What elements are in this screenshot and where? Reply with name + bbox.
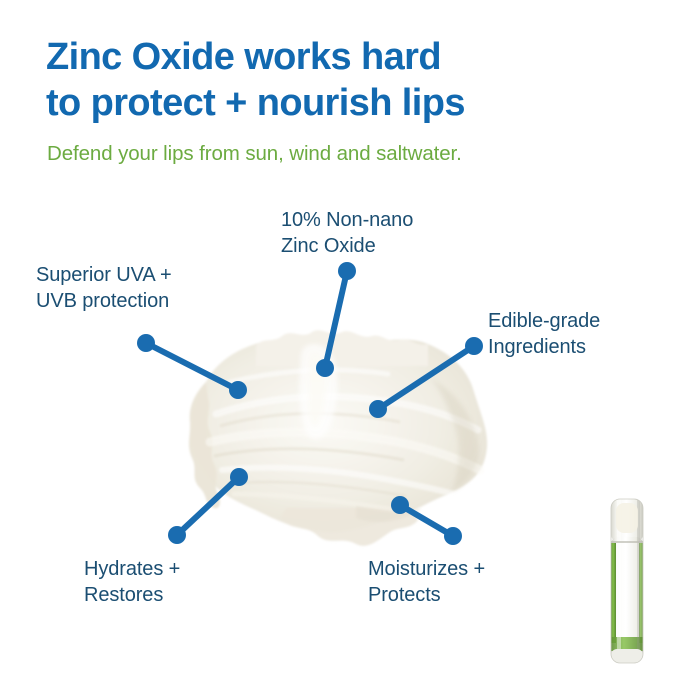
callout-label-superior-uva-uvb: Superior UVA + UVB protection: [36, 262, 266, 314]
headline-line-1: Zinc Oxide works hard: [46, 36, 441, 78]
tube-cap-seam: [611, 541, 643, 543]
page-title: Zinc Oxide works hard to protect + nouri…: [46, 34, 646, 126]
connector-line-moisturizes-protects: [400, 505, 453, 536]
callout-label-zinc-oxide-pct: 10% Non-nano Zinc Oxide: [281, 207, 501, 259]
connector-dot-outer-moisturizes-protects: [444, 527, 462, 545]
connector-dot-inner-zinc-oxide-pct: [316, 359, 334, 377]
connector-dot-inner-moisturizes-protects: [391, 496, 409, 514]
connector-line-edible-grade: [378, 346, 474, 409]
tube-base: [611, 649, 643, 663]
connector-dot-outer-edible-grade: [465, 337, 483, 355]
page-subtitle: Defend your lips from sun, wind and salt…: [47, 141, 667, 167]
connector-dot-inner-superior-uva-uvb: [229, 381, 247, 399]
connector-line-hydrates-restores: [177, 477, 239, 535]
connector-line-superior-uva-uvb: [146, 343, 238, 390]
tube-label-stripe-left: [611, 543, 616, 643]
connector-dot-outer-zinc-oxide-pct: [338, 262, 356, 280]
connector-dot-outer-hydrates-restores: [168, 526, 186, 544]
product-lip-balm-tube: waxhead SUN DEFENSE UV DEFENSE ZINC OXID…: [604, 497, 650, 665]
callout-label-moisturizes-protects: Moisturizes + Protects: [368, 556, 588, 608]
connector-dot-inner-hydrates-restores: [230, 468, 248, 486]
callout-label-edible-grade: Edible-grade Ingredients: [488, 308, 679, 360]
headline-line-2: to protect + nourish lips: [46, 80, 646, 126]
connector-dot-outer-superior-uva-uvb: [137, 334, 155, 352]
connector-dot-inner-edible-grade: [369, 400, 387, 418]
callout-label-hydrates-restores: Hydrates + Restores: [84, 556, 294, 608]
connector-line-zinc-oxide-pct: [325, 271, 347, 368]
infographic-canvas: Zinc Oxide works hard to protect + nouri…: [0, 0, 679, 679]
